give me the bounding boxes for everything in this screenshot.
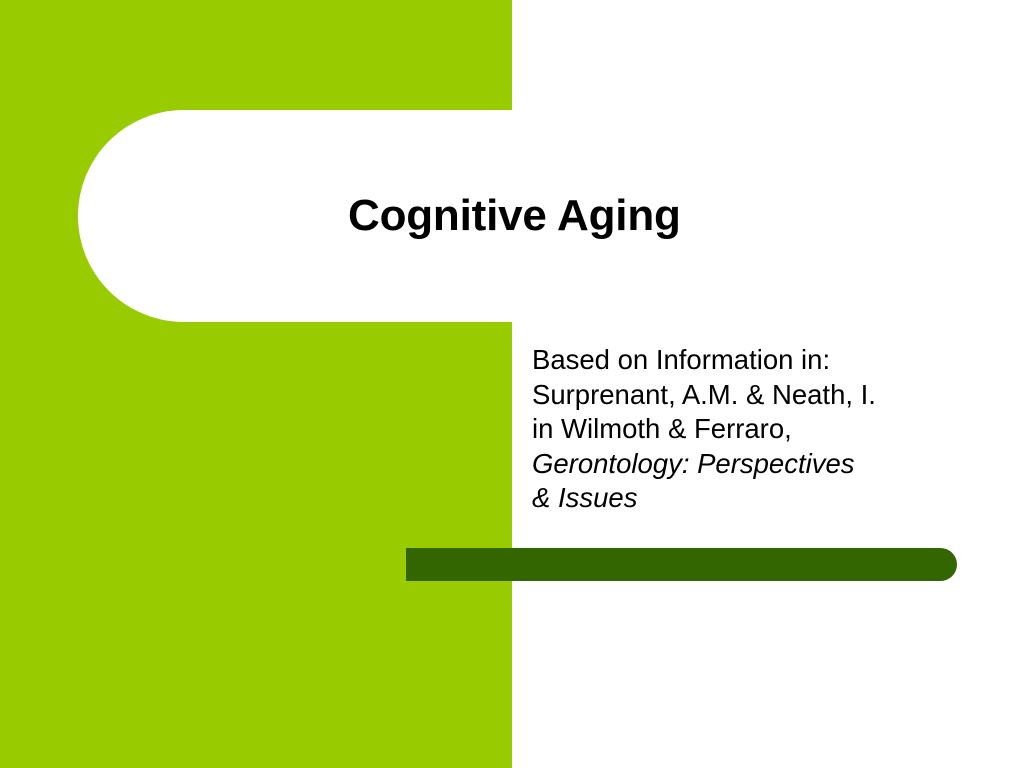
subtitle-line-5-book-title: & Issues (532, 481, 1002, 516)
subtitle-line-4-book-title: Gerontology: Perspectives (532, 447, 1002, 482)
subtitle-line-3: in Wilmoth & Ferraro, (532, 412, 1002, 447)
slide-subtitle: Based on Information in: Surprenant, A.M… (532, 343, 1002, 516)
presentation-slide: Cognitive Aging Based on Information in:… (0, 0, 1024, 768)
page-title: Cognitive Aging (348, 186, 968, 246)
subtitle-line-1: Based on Information in: (532, 343, 1002, 378)
dark-green-accent-bar (406, 548, 957, 581)
subtitle-line-2: Surprenant, A.M. & Neath, I. (532, 378, 1002, 413)
